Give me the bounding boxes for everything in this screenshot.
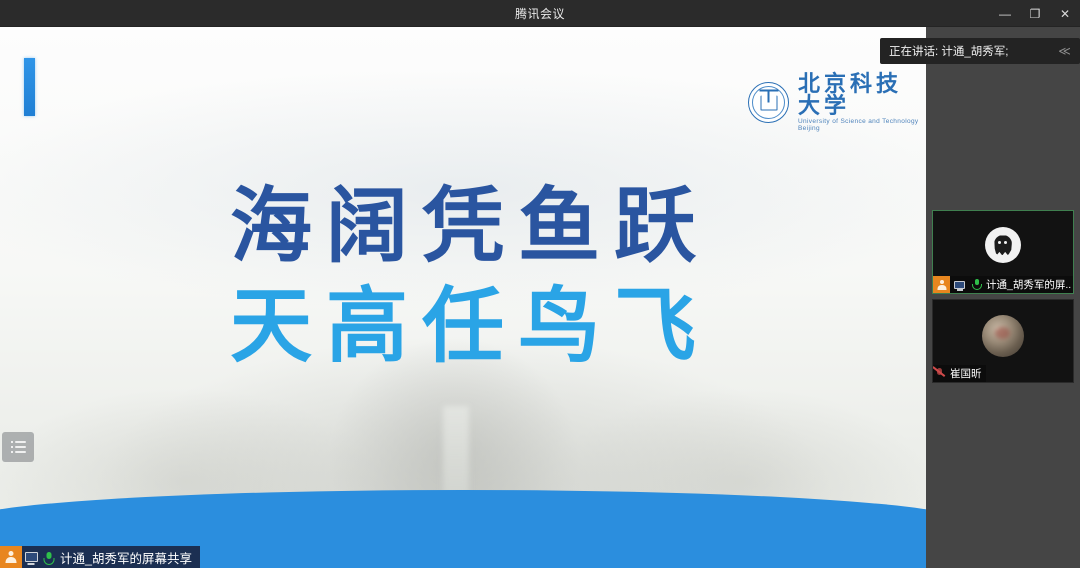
participant-tile[interactable]: 崔国昕 <box>932 299 1074 383</box>
microphone-icon <box>969 279 984 290</box>
university-name-cn: 北京科技大学 <box>798 73 926 117</box>
title-bar: 腾讯会议 — ❐ ✕ <box>0 0 1080 27</box>
participant-tile[interactable]: 计通_胡秀军的屏... <box>932 210 1074 294</box>
sidebar-background <box>926 27 1080 568</box>
participant-avatar-icon <box>933 276 950 293</box>
speaking-banner: 正在讲话: 计通_胡秀军; ≪ <box>880 38 1080 64</box>
window-controls: — ❐ ✕ <box>990 0 1080 27</box>
microphone-icon <box>40 551 58 564</box>
university-logo: 北京科技大学 University of Science and Technol… <box>748 73 926 132</box>
poem-line-2: 天高任鸟飞 <box>0 277 926 377</box>
participant-name: 崔国昕 <box>950 366 982 381</box>
avatar <box>982 315 1024 357</box>
close-icon[interactable]: ✕ <box>1050 0 1080 27</box>
screen-share-icon <box>22 552 40 562</box>
participants-sidebar: 正在讲话: 计通_胡秀军; ≪ 计通_胡秀军的屏... <box>926 27 1080 568</box>
list-menu-icon <box>11 441 26 453</box>
window-title: 腾讯会议 <box>515 5 565 22</box>
avatar <box>985 227 1021 263</box>
list-menu-button[interactable] <box>2 432 34 462</box>
collapse-chevron-icon[interactable]: ≪ <box>1052 42 1074 60</box>
participant-name: 计通_胡秀军的屏... <box>986 277 1071 292</box>
participant-label: 计通_胡秀军的屏... <box>933 276 1074 293</box>
university-seal-icon <box>748 82 789 123</box>
microphone-muted-icon <box>933 367 948 380</box>
share-status-label: 计通_胡秀军的屏幕共享 <box>60 548 192 567</box>
participant-avatar-icon <box>0 546 22 568</box>
participant-label: 崔国昕 <box>933 365 986 382</box>
share-status-bar: 计通_胡秀军的屏幕共享 <box>0 546 200 568</box>
poem-line-1: 海阔凭鱼跃 <box>0 177 926 277</box>
minimize-icon[interactable]: — <box>990 0 1020 27</box>
screen-share-icon <box>952 281 967 289</box>
shared-screen-view[interactable]: 北京科技大学 University of Science and Technol… <box>0 27 926 568</box>
speaking-label: 正在讲话: 计通_胡秀军; <box>889 43 1048 59</box>
meeting-window: 腾讯会议 — ❐ ✕ 北京科技大学 University of Science … <box>0 0 1080 568</box>
university-name-en: University of Science and Technology Bei… <box>798 119 926 132</box>
slide-accent-bar <box>24 58 35 116</box>
slide-poem: 海阔凭鱼跃 天高任鸟飞 <box>0 177 926 377</box>
maximize-icon[interactable]: ❐ <box>1020 0 1050 27</box>
meeting-body: 北京科技大学 University of Science and Technol… <box>0 27 1080 568</box>
